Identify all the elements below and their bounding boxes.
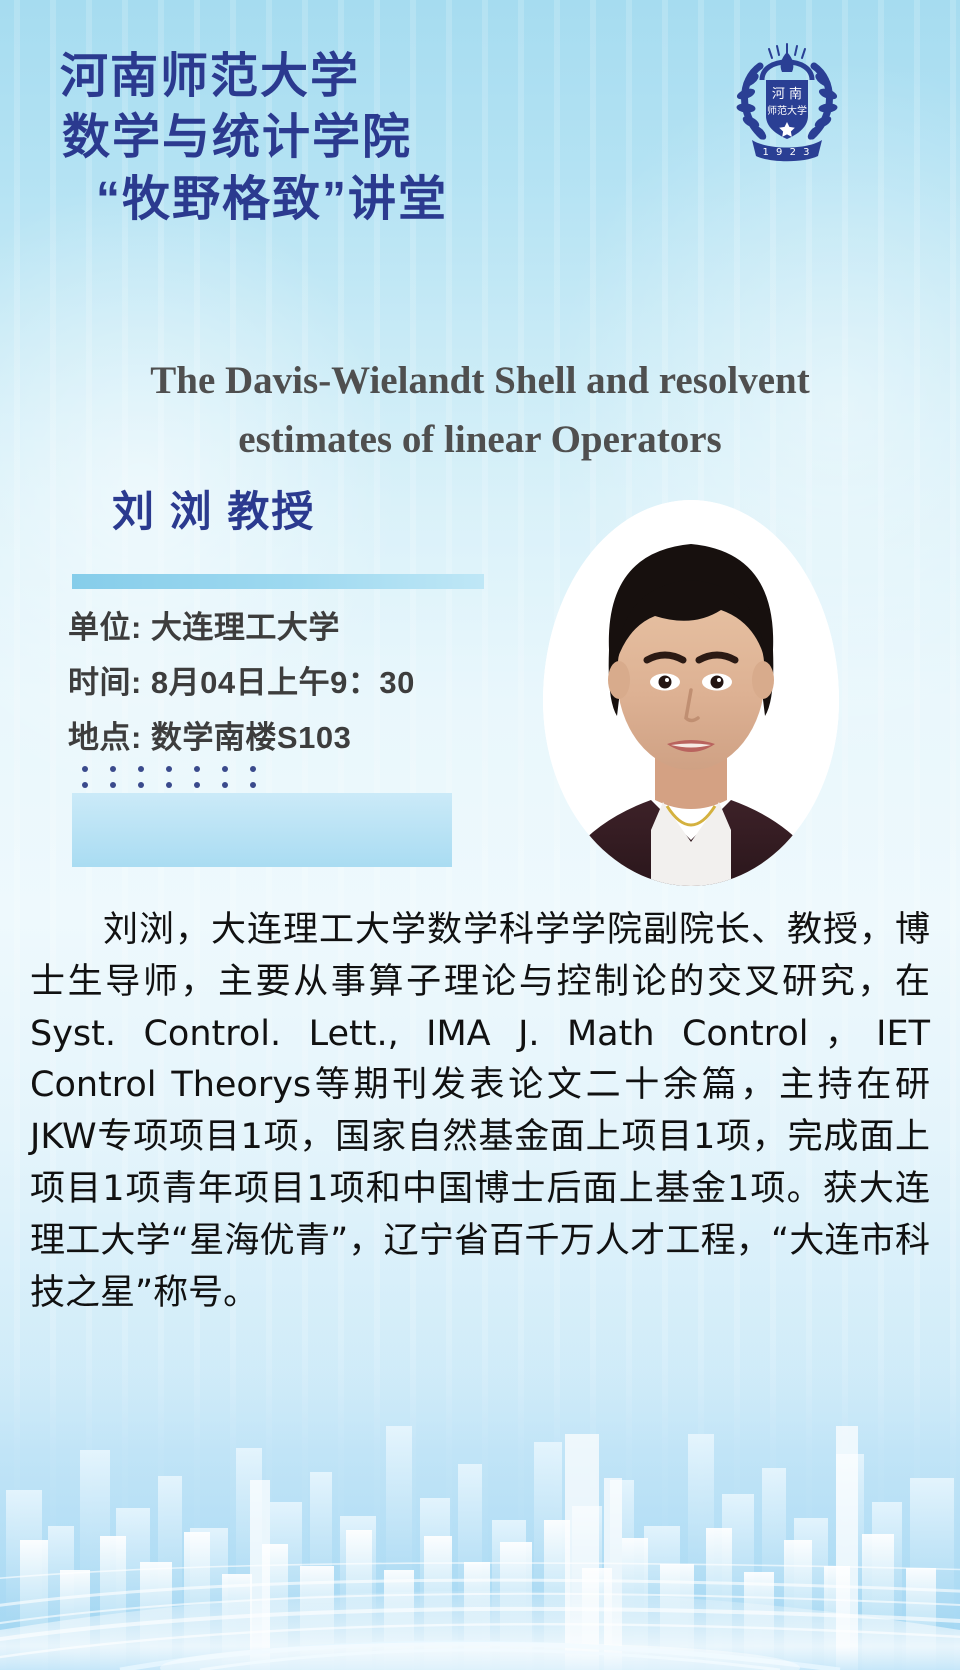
dot-row-2: [82, 782, 256, 788]
dot: [222, 766, 228, 772]
talk-title-line-1: The Davis-Wielandt Shell and resolvent: [30, 352, 930, 411]
dot: [82, 782, 88, 788]
accent-bar-top: [72, 574, 484, 589]
speaker-portrait: [543, 500, 839, 886]
dot: [250, 782, 256, 788]
emblem-inner-top: 河 南: [772, 86, 802, 102]
city-skyline-graphic: [0, 1330, 960, 1670]
dot: [82, 766, 88, 772]
accent-bar-bottom: [72, 793, 452, 867]
dot: [138, 782, 144, 788]
university-emblem-icon: 河 南 师范大学 1 9 2 3: [722, 36, 852, 166]
emblem-inner-bottom: 师范大学: [767, 104, 807, 117]
dot-row-1: [82, 766, 256, 772]
emblem-year: 1 9 2 3: [763, 147, 812, 158]
header-line-lecture-series: “牧野格致”讲堂: [60, 169, 700, 230]
info-affiliation: 单位: 大连理工大学: [68, 600, 538, 655]
dot: [138, 766, 144, 772]
dot: [110, 782, 116, 788]
header-line-school: 数学与统计学院: [60, 107, 700, 168]
speaker-name: 刘 浏 教授: [112, 478, 315, 539]
header-line-university: 河南师范大学: [60, 46, 700, 107]
event-info-block: 单位: 大连理工大学 时间: 8月04日上午9：30 地点: 数学南楼S103: [68, 600, 538, 766]
poster-header: 河南师范大学 数学与统计学院 “牧野格致”讲堂: [60, 46, 700, 230]
dot: [110, 766, 116, 772]
talk-title-line-2: estimates of linear Operators: [30, 411, 930, 470]
dot: [166, 782, 172, 788]
dot: [194, 782, 200, 788]
bio-text: 刘浏，大连理工大学数学科学学院副院长、教授，博士生导师，主要从事算子理论与控制论…: [30, 910, 930, 1313]
poster-canvas: 河南师范大学 数学与统计学院 “牧野格致”讲堂: [0, 0, 960, 1670]
dot: [250, 766, 256, 772]
dot: [222, 782, 228, 788]
talk-title: The Davis-Wielandt Shell and resolvent e…: [30, 352, 930, 469]
dot: [166, 766, 172, 772]
info-venue: 地点: 数学南楼S103: [68, 710, 538, 765]
speaker-bio: 刘浏，大连理工大学数学科学学院副院长、教授，博士生导师，主要从事算子理论与控制论…: [30, 905, 930, 1319]
dot: [194, 766, 200, 772]
info-time: 时间: 8月04日上午9：30: [68, 655, 538, 710]
